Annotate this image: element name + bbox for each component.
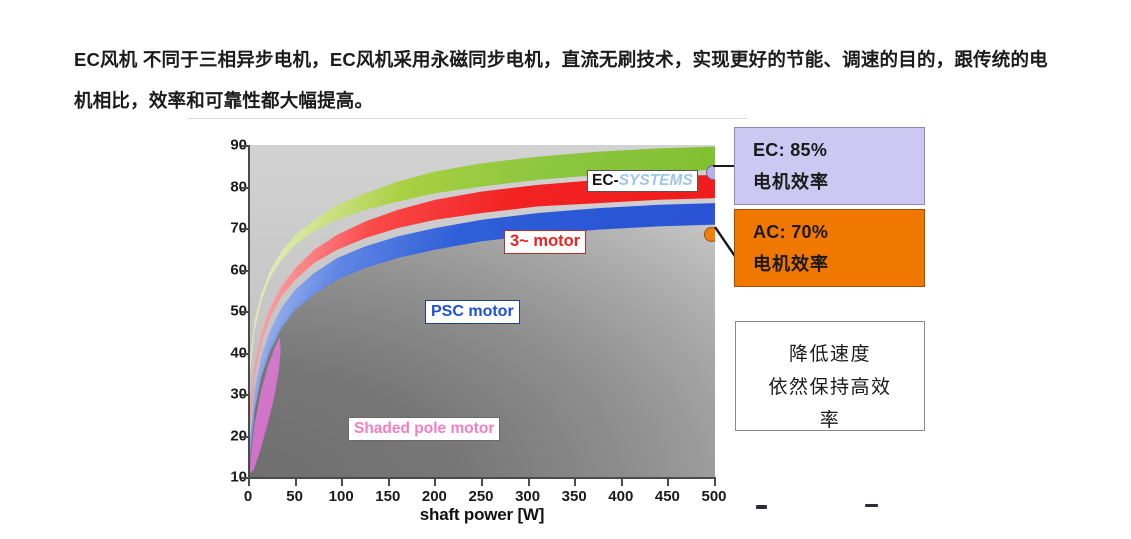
x-tick-300: 300 xyxy=(508,488,548,505)
x-tick-450: 450 xyxy=(647,488,687,505)
x-tick-50: 50 xyxy=(275,488,315,505)
note-line-1: 降低速度 xyxy=(736,338,924,371)
ac-data-marker xyxy=(704,227,715,242)
y-tickmark-20 xyxy=(241,436,249,438)
y-tickmark-60 xyxy=(241,270,249,272)
x-tickmark-200 xyxy=(434,479,436,486)
ac-efficiency-box: AC: 70% 电机效率 xyxy=(734,209,925,287)
x-tickmark-0 xyxy=(248,479,250,486)
x-tickmark-450 xyxy=(667,479,669,486)
bottom-dash-right xyxy=(865,504,878,507)
x-tick-200: 200 xyxy=(414,488,454,505)
ac-efficiency-subline: 电机效率 xyxy=(753,248,924,280)
ac-efficiency-headline: AC: 70% xyxy=(753,216,924,248)
x-tick-0: 0 xyxy=(228,488,268,505)
ec-efficiency-subline: 电机效率 xyxy=(753,166,924,198)
x-tickmark-400 xyxy=(621,479,623,486)
x-tick-500: 500 xyxy=(694,488,734,505)
label-three-phase-motor: 3~ motor xyxy=(504,230,586,254)
x-tick-400: 400 xyxy=(601,488,641,505)
y-tickmark-50 xyxy=(241,311,249,313)
label-shaded-pole-motor: Shaded pole motor xyxy=(348,417,500,441)
ec-data-marker xyxy=(706,165,715,180)
x-axis-title: shaft power [W] xyxy=(248,505,716,525)
x-tickmark-250 xyxy=(481,479,483,486)
y-tickmark-70 xyxy=(241,228,249,230)
label-ec-suffix: SYSTEMS xyxy=(619,172,693,189)
label-ec-systems: EC-SYSTEMS xyxy=(587,170,698,192)
label-psc-motor: PSC motor xyxy=(425,300,520,324)
x-tick-250: 250 xyxy=(461,488,501,505)
x-tickmark-100 xyxy=(341,479,343,486)
intro-paragraph: EC风机 不同于三相异步电机，EC风机采用永磁同步电机，直流无刷技术，实现更好的… xyxy=(74,39,1064,121)
x-tick-100: 100 xyxy=(321,488,361,505)
low-speed-note-box: 降低速度 依然保持高效 率 xyxy=(735,321,925,431)
x-tickmark-50 xyxy=(295,479,297,486)
plot-area: EC-SYSTEMS 3~ motor PSC motor Shaded pol… xyxy=(249,145,715,477)
figure-top-divider xyxy=(187,118,747,119)
y-tickmark-80 xyxy=(241,187,249,189)
x-tickmark-500 xyxy=(714,479,716,486)
y-tickmark-40 xyxy=(241,353,249,355)
note-line-2: 依然保持高效 xyxy=(736,371,924,404)
note-line-3: 率 xyxy=(736,404,924,437)
motor-efficiency-chart: motor efficiency [%] 90 80 70 60 50 40 3… xyxy=(187,126,747,518)
x-tickmark-150 xyxy=(388,479,390,486)
x-tick-350: 350 xyxy=(554,488,594,505)
ec-efficiency-headline: EC: 85% xyxy=(753,134,924,166)
x-tickmark-300 xyxy=(528,479,530,486)
efficiency-figure: motor efficiency [%] 90 80 70 60 50 40 3… xyxy=(187,118,925,518)
y-tickmark-30 xyxy=(241,394,249,396)
x-tick-150: 150 xyxy=(368,488,408,505)
y-tickmark-90 xyxy=(241,145,249,147)
x-tickmark-350 xyxy=(574,479,576,486)
ec-efficiency-box: EC: 85% 电机效率 xyxy=(734,127,925,205)
label-ec-prefix: EC- xyxy=(592,172,619,189)
bottom-dash-left xyxy=(756,505,767,509)
